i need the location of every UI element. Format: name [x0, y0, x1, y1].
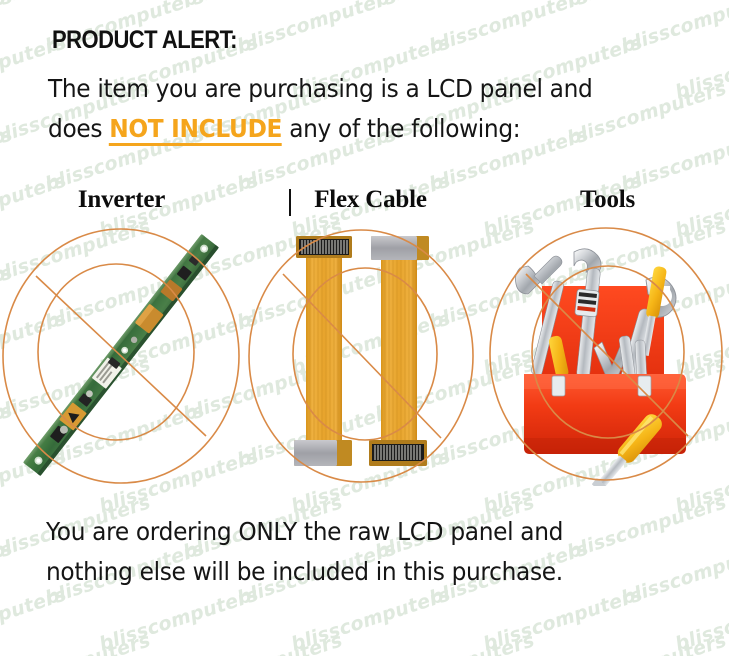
text-caret-artifact — [289, 189, 291, 216]
panel-label-inverter: Inverter — [0, 186, 243, 214]
product-panel-flex-cable: Flex Cable — [243, 186, 486, 486]
product-panel-inverter: Inverter — [0, 186, 243, 486]
content-layer: PRODUCT ALERT: The item you are purchasi… — [0, 0, 729, 656]
intro-text-line-1: The item you are purchasing is a LCD pan… — [48, 74, 592, 103]
product-alert-banner: blisscomputersblisscomputersblisscompute… — [0, 0, 729, 656]
not-include-emphasis: NOT INCLUDE — [109, 114, 282, 146]
intro-text-line-2: does NOT INCLUDE any of the following: — [48, 114, 520, 143]
panel-label-tools: Tools — [486, 186, 729, 214]
panel-label-flex-cable: Flex Cable — [243, 186, 492, 214]
outro-text-line-1: You are ordering ONLY the raw LCD panel … — [46, 517, 563, 546]
flex-cable-illustration — [243, 224, 486, 486]
outro-text-line-2: nothing else will be included in this pu… — [46, 557, 563, 586]
product-panel-tools: Tools — [486, 186, 729, 486]
tools-illustration — [486, 224, 729, 486]
inverter-illustration — [0, 224, 243, 486]
intro-prefix: does — [48, 114, 109, 143]
intro-suffix: any of the following: — [282, 114, 520, 143]
page-title: PRODUCT ALERT: — [52, 26, 237, 55]
